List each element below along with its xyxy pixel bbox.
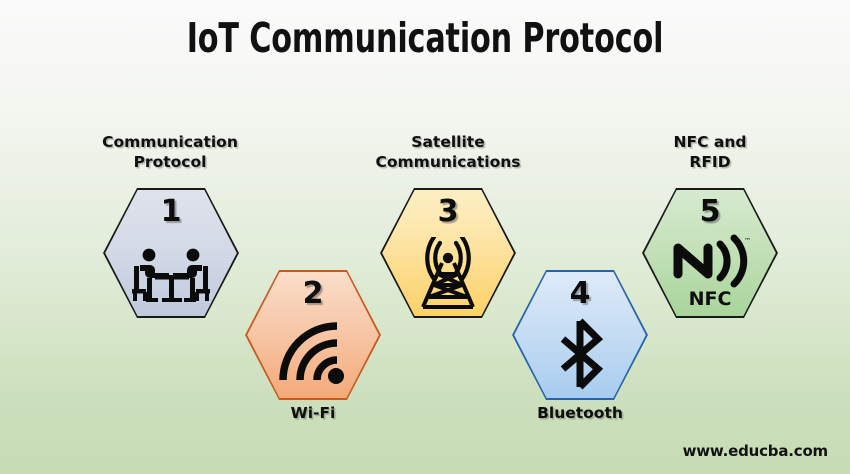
node-5[interactable]: 5 ™ NFC (642, 188, 778, 318)
node-3-number: 3 (380, 194, 516, 229)
node-1-hexagon[interactable]: 1 (103, 188, 239, 318)
footer-url: www.educba.com (683, 442, 828, 460)
nfc-wordmark: NFC (642, 288, 778, 310)
node-1-number: 1 (103, 194, 239, 229)
node-5-number: 5 (642, 194, 778, 229)
node-4-caption: Bluetooth (490, 404, 670, 424)
node-2[interactable]: 2 (245, 270, 381, 400)
node-1-caption: Communication Protocol (80, 133, 260, 173)
node-3-caption: Satellite Communications (353, 133, 543, 173)
node-3-hexagon[interactable]: 3 (380, 188, 516, 318)
infographic-canvas: IoT Communication Protocol Communication… (0, 0, 850, 474)
nfc-logo-icon: ™ (642, 234, 778, 290)
node-5-hexagon[interactable]: 5 ™ NFC (642, 188, 778, 318)
node-2-number: 2 (245, 276, 381, 311)
page-title: IoT Communication Protocol (77, 14, 774, 62)
meeting-table-icon (103, 246, 239, 308)
node-4-hexagon[interactable]: 4 (512, 270, 648, 400)
bluetooth-icon (512, 318, 648, 390)
svg-text:™: ™ (744, 237, 751, 245)
node-3[interactable]: 3 (380, 188, 516, 318)
node-2-caption: Wi-Fi (223, 404, 403, 424)
broadcast-tower-icon (380, 236, 516, 310)
node-4[interactable]: 4 (512, 270, 648, 400)
node-2-hexagon[interactable]: 2 (245, 270, 381, 400)
node-4-number: 4 (512, 276, 648, 311)
node-1[interactable]: 1 (103, 188, 239, 318)
wifi-icon (245, 318, 381, 390)
node-5-caption: NFC and RFID (620, 133, 800, 173)
